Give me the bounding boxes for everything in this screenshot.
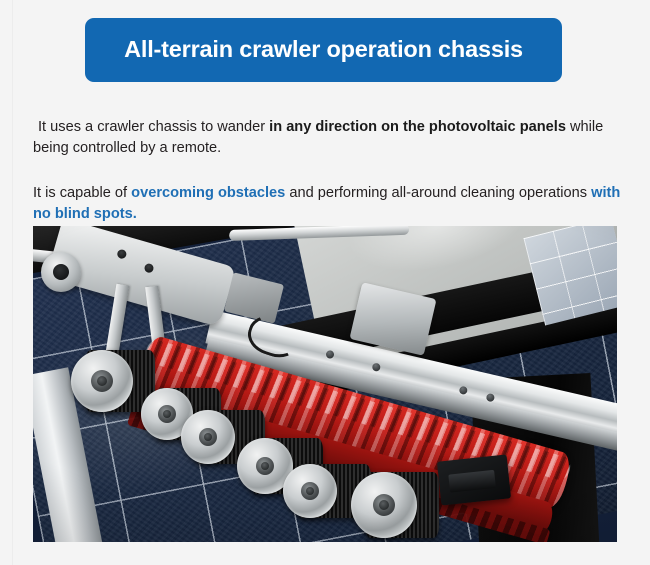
rail-bolt	[459, 386, 469, 396]
page-title: All-terrain crawler operation chassis	[124, 37, 523, 63]
roller-6	[351, 472, 443, 538]
title-banner: All-terrain crawler operation chassis	[85, 18, 562, 82]
roller-hub-center	[379, 500, 389, 510]
body-copy: It uses a crawler chassis to wander in a…	[33, 117, 633, 225]
arm-plate-hole	[116, 249, 127, 260]
machine-foot	[437, 454, 511, 505]
paragraph-2: It is capable of overcoming obstacles an…	[33, 183, 633, 225]
rail-bolt	[325, 350, 335, 360]
paragraph-1-bold: in any direction on the photovoltaic pan…	[269, 119, 566, 135]
product-photo	[33, 226, 617, 542]
arm-plate-hole	[143, 263, 154, 274]
roller-hub-center	[204, 433, 212, 441]
photo-scene	[33, 226, 617, 542]
arm-pivot-hub	[41, 252, 81, 292]
paragraph-2-lead: It is capable of	[33, 185, 131, 201]
rail-bolt	[372, 362, 382, 372]
roller-hub-center	[261, 462, 269, 470]
rail-bolt	[486, 393, 496, 403]
roller-hub-center	[163, 410, 171, 418]
roller-hub-center	[306, 487, 314, 495]
paragraph-2-middle: and performing all-around cleaning opera…	[285, 185, 591, 201]
page-root: All-terrain crawler operation chassis It…	[0, 0, 650, 565]
paragraph-1-lead: It uses a crawler chassis to wander	[33, 119, 269, 135]
page-edge-rule	[12, 0, 13, 565]
paragraph-1: It uses a crawler chassis to wander in a…	[33, 117, 633, 159]
paragraph-2-accent-1: overcoming obstacles	[131, 185, 285, 201]
roller-hub-center	[97, 376, 107, 386]
